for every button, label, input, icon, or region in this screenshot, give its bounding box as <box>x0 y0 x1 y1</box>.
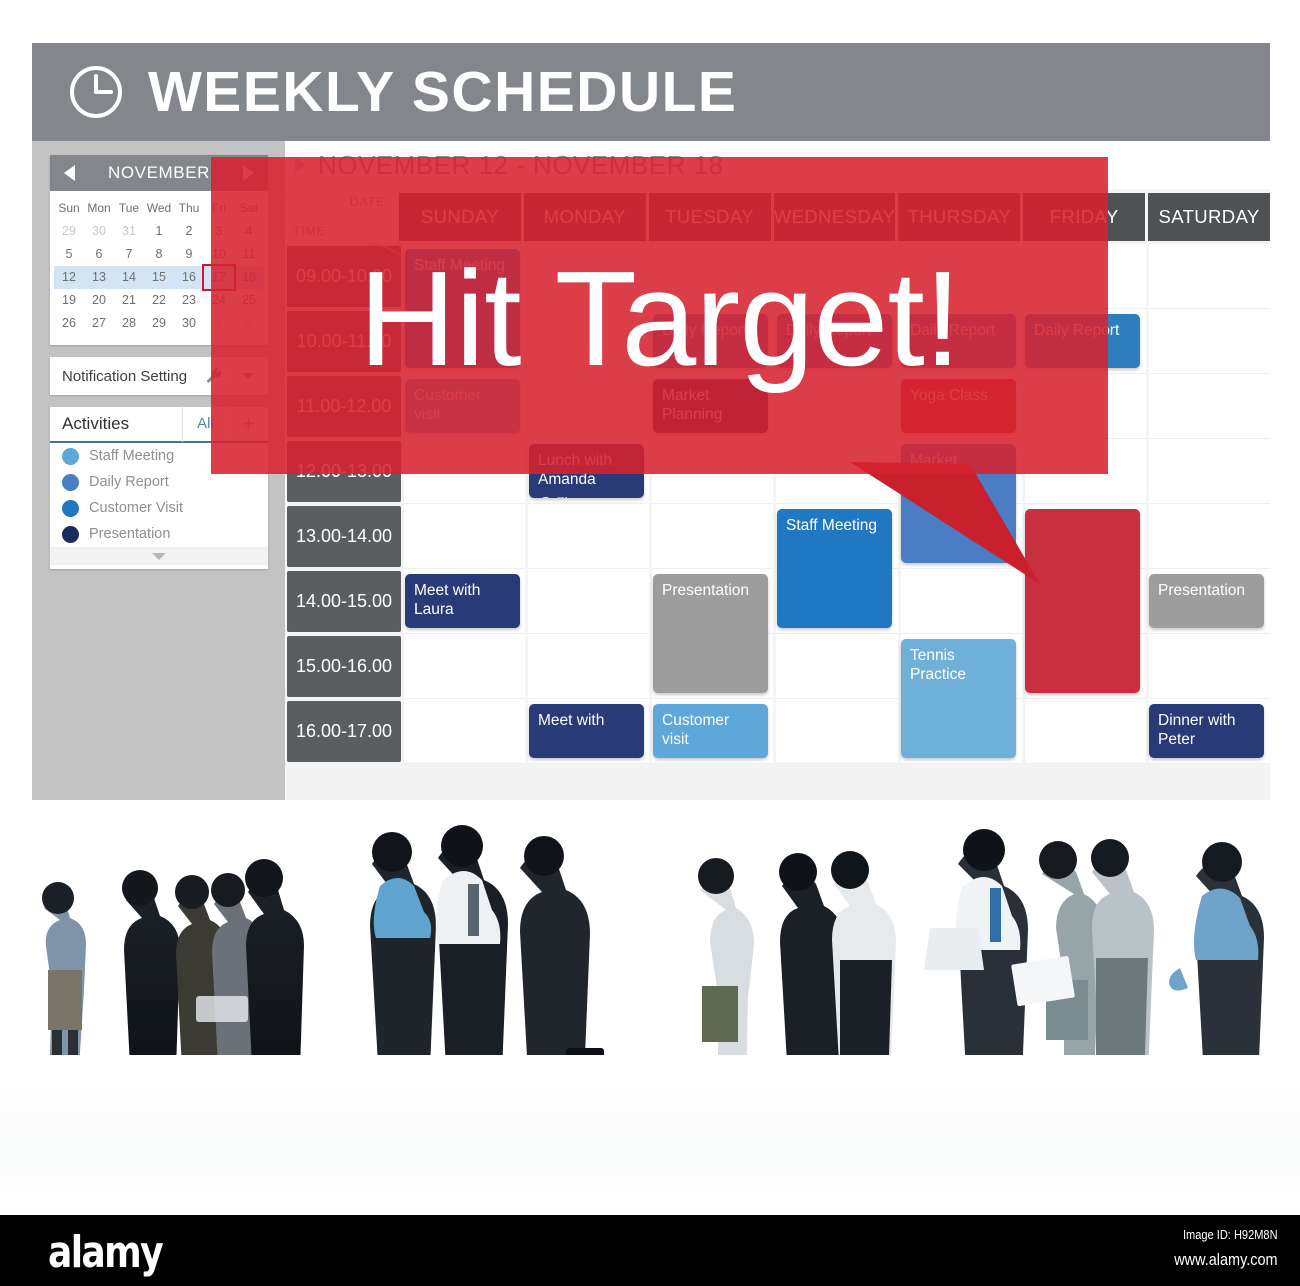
mini-calendar-day[interactable]: 16 <box>174 266 204 289</box>
schedule-cell[interactable] <box>1149 309 1270 374</box>
schedule-cell[interactable] <box>1149 634 1270 699</box>
event-title: Tennis Practice <box>910 647 966 683</box>
mini-calendar-day[interactable]: 14 <box>114 266 144 289</box>
schedule-cell[interactable] <box>404 504 525 569</box>
mini-calendar-day[interactable]: 26 <box>54 312 84 335</box>
mini-calendar-day[interactable]: 15 <box>144 266 174 289</box>
mini-calendar-day[interactable]: 29 <box>54 220 84 243</box>
event-title: Presentation <box>1158 582 1245 599</box>
schedule-cell[interactable] <box>1149 244 1270 309</box>
activity-legend-label: Presentation <box>89 526 170 542</box>
activity-color-dot <box>62 526 79 543</box>
mini-calendar-day[interactable]: 5 <box>54 243 84 266</box>
schedule-event[interactable]: Meet with Laura <box>405 574 520 628</box>
dow-sun: Sun <box>54 197 84 220</box>
event-title: Customer visit <box>662 712 729 748</box>
time-slot-label: 14.00-15.00 <box>287 571 401 632</box>
schedule-event[interactable]: Presentation <box>1149 574 1264 628</box>
time-slot-label: 13.00-14.00 <box>287 506 401 567</box>
schedule-event[interactable]: Customer visit <box>653 704 768 758</box>
schedule-event[interactable]: Tennis Practice <box>901 639 1016 758</box>
callout-text: Hit Target! <box>359 251 961 386</box>
schedule-cell[interactable] <box>776 699 897 764</box>
mini-calendar-day[interactable]: 9 <box>174 243 204 266</box>
alamy-logo: alamy <box>48 1227 162 1278</box>
mini-calendar-day[interactable]: 19 <box>54 289 84 312</box>
schedule-cell[interactable] <box>528 504 649 569</box>
mini-calendar-day[interactable]: 6 <box>84 243 114 266</box>
page-title: WEEKLY SCHEDULE <box>148 59 737 125</box>
mini-calendar-day[interactable]: 29 <box>144 312 174 335</box>
schedule-cell[interactable] <box>1149 439 1270 504</box>
mini-calendar-day[interactable]: 20 <box>84 289 114 312</box>
watermark-meta: Image ID: H92M8N www.alamy.com <box>1156 1227 1278 1270</box>
prev-month-button[interactable] <box>64 165 75 181</box>
mini-calendar-day[interactable]: 23 <box>174 289 204 312</box>
schedule-event[interactable]: Presentation <box>653 574 768 693</box>
schedule-cell[interactable] <box>1149 504 1270 569</box>
activity-legend-label: Daily Report <box>89 474 169 490</box>
time-slot-label: 16.00-17.00 <box>287 701 401 762</box>
app-title-bar: WEEKLY SCHEDULE <box>32 43 1270 141</box>
image-id-label: Image ID: H92M8N <box>1175 1227 1278 1242</box>
activity-legend-label: Staff Meeting <box>89 448 174 464</box>
dow-wed: Wed <box>144 197 174 220</box>
activity-legend-item[interactable]: Presentation <box>50 521 268 547</box>
notification-setting-label: Notification Setting <box>50 368 201 385</box>
mini-calendar-day[interactable]: 8 <box>144 243 174 266</box>
schedule-cell[interactable] <box>528 569 649 634</box>
mini-calendar-day[interactable]: 30 <box>84 220 114 243</box>
mini-calendar-day[interactable]: 2 <box>174 220 204 243</box>
alamy-url: www.alamy.com <box>1175 1250 1278 1270</box>
activity-legend-item[interactable]: Customer Visit <box>50 495 268 521</box>
mini-calendar-day[interactable]: 28 <box>114 312 144 335</box>
mini-calendar-day[interactable]: 13 <box>84 266 114 289</box>
mini-calendar-day[interactable]: 27 <box>84 312 114 335</box>
event-title: Meet with <box>538 712 604 729</box>
schedule-cell[interactable] <box>1149 374 1270 439</box>
dow-thu: Thu <box>174 197 204 220</box>
event-title: Dinner with Peter <box>1158 712 1236 748</box>
event-title: Presentation <box>662 582 749 599</box>
activity-color-dot <box>62 500 79 517</box>
schedule-cell[interactable] <box>776 634 897 699</box>
day-header-saturday[interactable]: SATURDAY <box>1148 193 1270 241</box>
mini-calendar-day[interactable]: 22 <box>144 289 174 312</box>
schedule-event[interactable]: Meet with <box>529 704 644 758</box>
callout-tail <box>850 462 1050 592</box>
schedule-cell[interactable] <box>528 634 649 699</box>
clock-icon <box>68 64 124 120</box>
activities-title: Activities <box>50 414 182 434</box>
activity-legend-label: Customer Visit <box>89 500 183 516</box>
schedule-cell[interactable] <box>652 504 773 569</box>
schedule-cell[interactable] <box>404 699 525 764</box>
hit-target-callout: Hit Target! <box>211 157 1108 474</box>
time-slot-label: 15.00-16.00 <box>287 636 401 697</box>
mini-calendar-day[interactable]: 1 <box>144 220 174 243</box>
activity-color-dot <box>62 448 79 465</box>
mini-calendar-month: NOVEMBER <box>108 163 210 183</box>
event-subtitle: @ Flow Restaurant <box>538 493 635 498</box>
business-people-photo <box>0 800 1300 1215</box>
activity-color-dot <box>62 474 79 491</box>
dow-mon: Mon <box>84 197 114 220</box>
dow-tue: Tue <box>114 197 144 220</box>
schedule-event[interactable]: Dinner with Peter <box>1149 704 1264 758</box>
alamy-watermark-bar: alamy Image ID: H92M8N www.alamy.com <box>0 1215 1300 1286</box>
mini-calendar-day[interactable]: 7 <box>114 243 144 266</box>
chevron-down-icon <box>152 553 166 560</box>
mini-calendar-day[interactable]: 21 <box>114 289 144 312</box>
mini-calendar-day[interactable]: 30 <box>174 312 204 335</box>
schedule-row: 16.00-17.00 <box>285 699 1270 764</box>
screenshot-root: WEEKLY SCHEDULE NOVEMBER Sun Mon <box>0 0 1300 1286</box>
mini-calendar-day[interactable]: 12 <box>54 266 84 289</box>
floor-reflection <box>0 1055 1300 1215</box>
schedule-cell[interactable] <box>1025 699 1146 764</box>
event-title: Meet with Laura <box>414 582 480 618</box>
mini-calendar-day[interactable]: 31 <box>114 220 144 243</box>
activities-more-button[interactable] <box>50 547 268 565</box>
schedule-cell[interactable] <box>404 634 525 699</box>
